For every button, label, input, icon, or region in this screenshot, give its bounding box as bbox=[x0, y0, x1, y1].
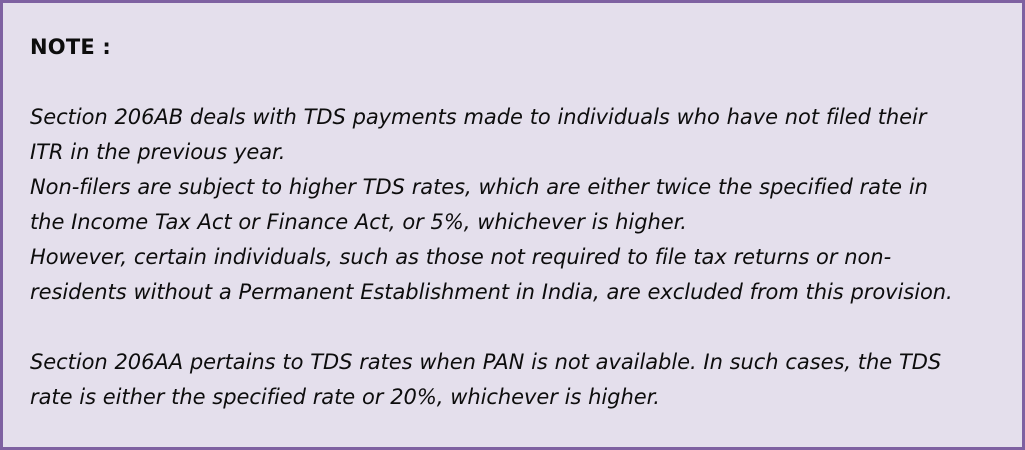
note-line-206ab-2: Non-filers are subject to higher TDS rat… bbox=[30, 170, 965, 240]
note-line-206ab-1: Section 206AB deals with TDS payments ma… bbox=[30, 100, 965, 170]
note-paragraph-section-206aa: Section 206AA pertains to TDS rates when… bbox=[30, 345, 965, 415]
note-line-206aa-1: Section 206AA pertains to TDS rates when… bbox=[30, 345, 965, 415]
spacer-between-paragraphs bbox=[30, 310, 998, 345]
note-paragraph-section-206ab: Section 206AB deals with TDS payments ma… bbox=[30, 100, 965, 310]
note-callout-box: NOTE : Section 206AB deals with TDS paym… bbox=[0, 0, 1025, 450]
note-content: NOTE : Section 206AB deals with TDS paym… bbox=[3, 3, 1022, 447]
note-line-206ab-3: However, certain individuals, such as th… bbox=[30, 240, 965, 310]
spacer-after-heading bbox=[30, 65, 998, 100]
note-heading: NOTE : bbox=[30, 30, 998, 65]
